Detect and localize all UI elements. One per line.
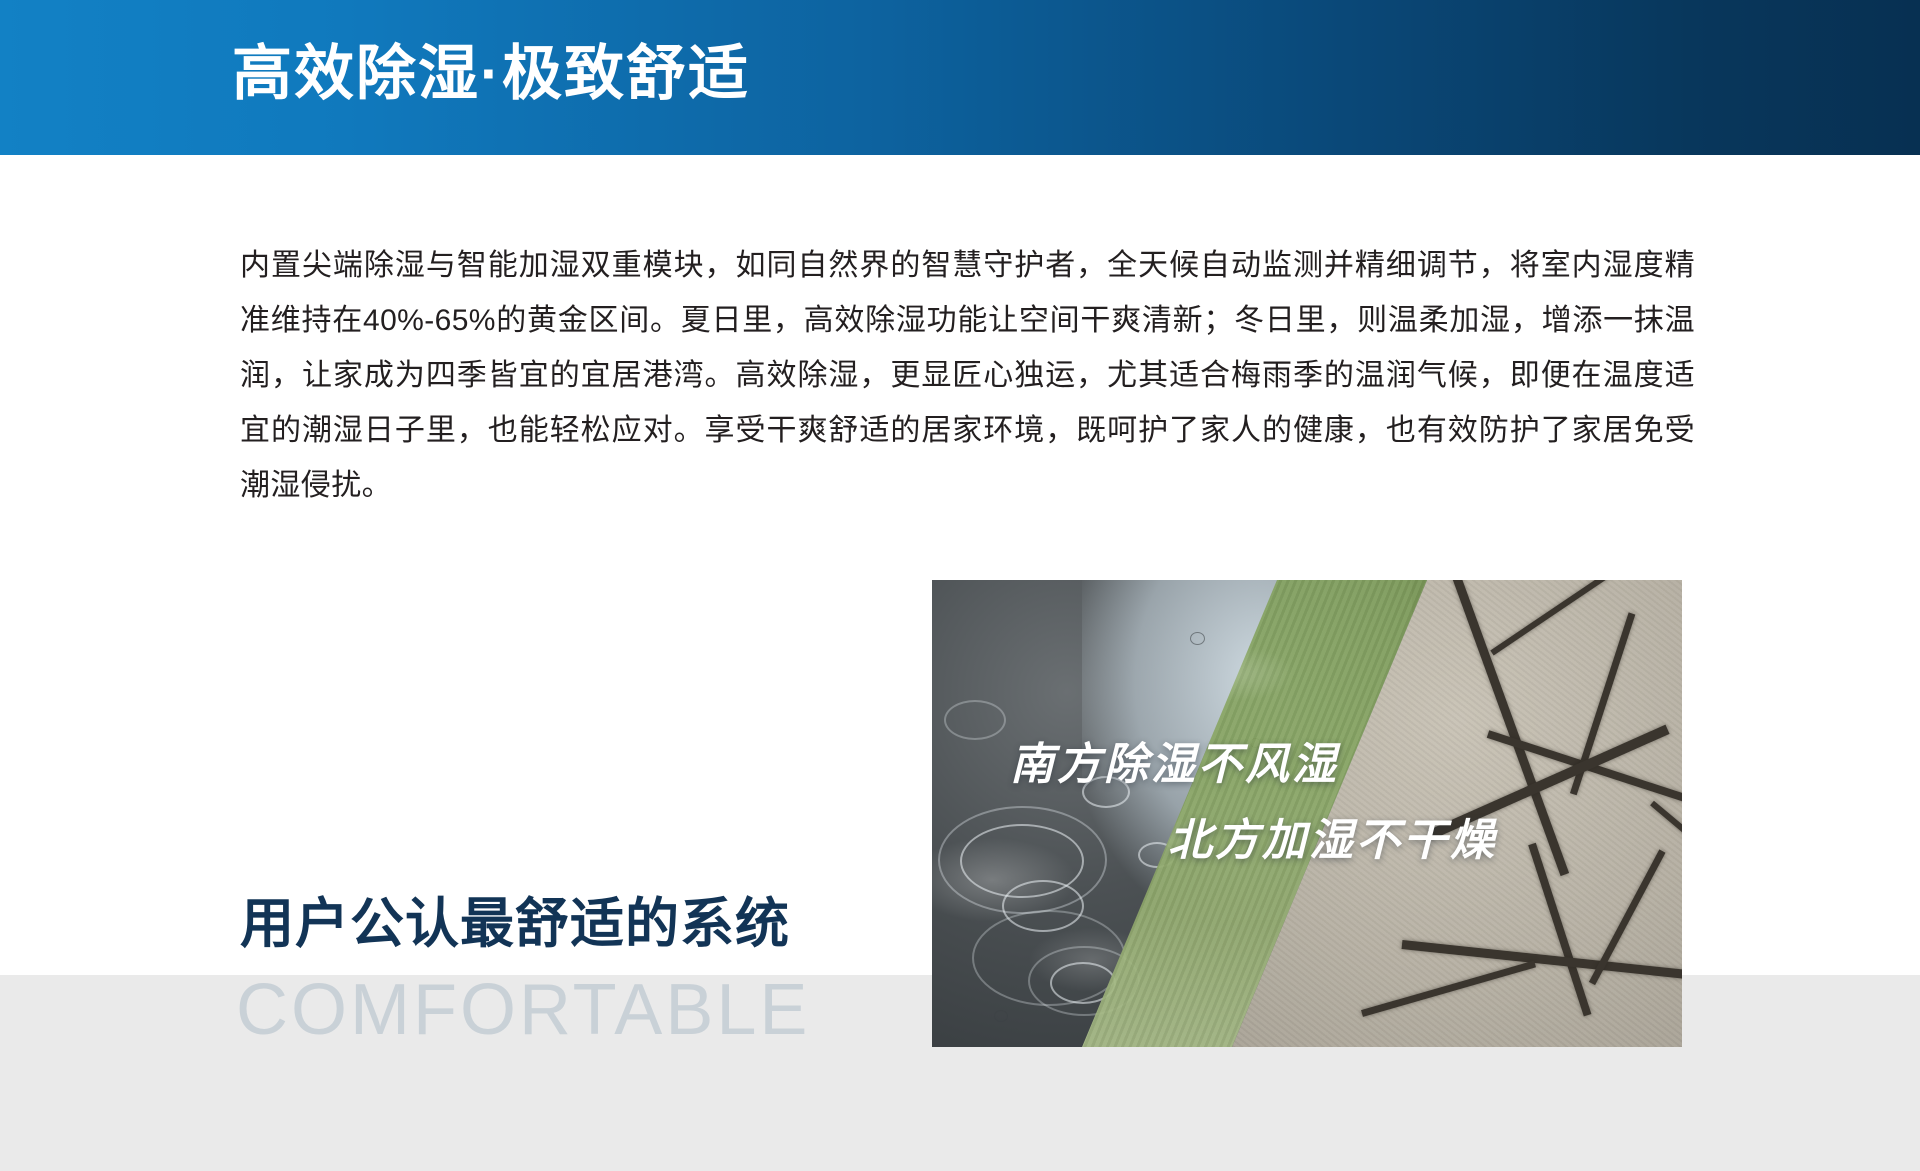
body-paragraph: 内置尖端除湿与智能加湿双重模块，如同自然界的智慧守护者，全天候自动监测并精细调节… bbox=[240, 238, 1695, 513]
page-title: 高效除湿·极致舒适 bbox=[232, 36, 750, 111]
photo-overlay-line-2: 北方加湿不干燥 bbox=[1168, 804, 1497, 868]
body-paragraph-block: 内置尖端除湿与智能加湿双重模块，如同自然界的智慧守护者，全天候自动监测并精细调节… bbox=[240, 238, 1695, 513]
photo-overlay-line-1: 南方除湿不风湿 bbox=[1010, 728, 1339, 792]
feature-photo: 南方除湿不风湿 北方加湿不干燥 bbox=[932, 580, 1682, 1047]
section-heading-chinese: 用户公认最舒适的系统 bbox=[240, 895, 790, 954]
photo-overlay-text: 南方除湿不风湿 北方加湿不干燥 bbox=[932, 580, 1682, 1047]
section-heading-english: COMFORTABLE bbox=[236, 965, 810, 1055]
header-bar: 高效除湿·极致舒适 bbox=[0, 0, 1920, 155]
